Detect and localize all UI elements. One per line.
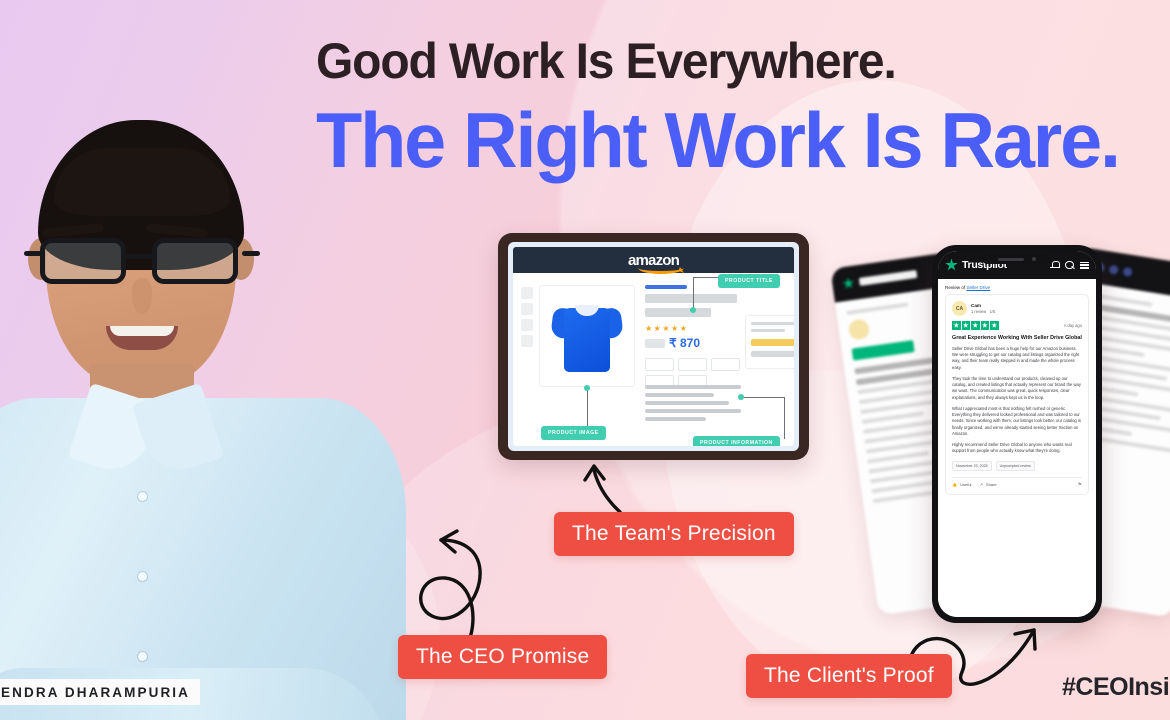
phone-notch	[982, 254, 1052, 264]
share-button[interactable]: ↗ Share	[979, 482, 996, 487]
buybox-line-2	[751, 329, 785, 332]
product-hero-image	[539, 285, 635, 387]
nose	[132, 278, 152, 314]
reviewer-identity: Cam 1 review US	[971, 303, 995, 314]
seller-drive-link[interactable]: Seller Drive	[966, 285, 990, 290]
phone-screen: Trustpilot Review of Seller Drive CA Cam	[938, 251, 1096, 617]
desc-line	[645, 401, 729, 405]
ghost-line	[873, 491, 935, 504]
bell-icon[interactable]	[1050, 261, 1059, 270]
star-icon	[990, 321, 999, 330]
callout-product-title: PRODUCT TITLE	[718, 274, 780, 288]
review-paragraph: Seller Drive Global has been a huge help…	[952, 346, 1082, 372]
useful-button[interactable]: 👍 Useful	[952, 482, 971, 487]
review-date: November 23, 2025	[952, 461, 992, 471]
amazon-logo: amazon	[628, 253, 679, 268]
label-ceo-promise[interactable]: The CEO Promise	[398, 635, 607, 679]
product-description-block	[645, 385, 741, 425]
tablet-mockup: amazon	[498, 233, 809, 460]
trustpilot-star-icon	[945, 259, 958, 272]
rating-row: A day ago	[952, 321, 1082, 330]
star-icon: ★	[671, 325, 678, 333]
headline-block: Good Work Is Everywhere. The Right Work …	[316, 34, 1170, 182]
reviewer-review-count: 1 review	[971, 309, 986, 314]
product-rating-stars: ★ ★ ★ ★ ★	[645, 325, 737, 333]
unprompted-review-badge: Unprompted review	[996, 461, 1035, 471]
tablet-screen: amazon	[508, 242, 799, 451]
reviewer-location: US	[990, 309, 996, 314]
star-icon	[842, 277, 856, 291]
shirt-button-3	[138, 652, 147, 661]
flag-icon[interactable]: ⚑	[1078, 482, 1082, 488]
ghost-avatar	[848, 318, 871, 341]
amazon-header: amazon	[513, 247, 794, 273]
thumbnail-strip[interactable]	[521, 287, 533, 347]
reviewer-name: Cam	[971, 303, 995, 308]
buybox-panel	[745, 315, 794, 369]
callout-connector-info-h	[741, 397, 785, 398]
callout-connector-info-v	[784, 397, 785, 439]
star-icon: ★	[680, 325, 687, 333]
speaker-name-text: IJENDRA DHARAMPURIA	[0, 685, 190, 700]
review-time-ago: A day ago	[1064, 323, 1082, 328]
callout-connector-image-v	[587, 389, 588, 429]
product-title-bar-2	[645, 308, 711, 317]
speaker-portrait	[0, 120, 400, 720]
review-page-body: Review of Seller Drive CA Cam 1 review U…	[938, 279, 1096, 617]
desc-line	[645, 385, 741, 389]
star-icon: ★	[645, 325, 652, 333]
share-label: Share	[986, 482, 997, 487]
variant-option[interactable]	[711, 358, 740, 371]
callout-connector-title-v	[693, 277, 694, 309]
review-paragraph: Highly recommend Seller Drive Global to …	[952, 442, 1082, 455]
phone-mockup-stack: Trustpilot Review of Seller Drive CA Cam	[850, 240, 1170, 640]
tshirt-body	[564, 308, 610, 372]
thumbnail-4[interactable]	[521, 335, 533, 347]
headline-line-1: Good Work Is Everywhere.	[316, 34, 1170, 88]
ghost-line	[846, 302, 908, 315]
thumbnail-2[interactable]	[521, 303, 533, 315]
star-icon	[952, 321, 961, 330]
label-client-proof[interactable]: The Client's Proof	[746, 654, 952, 698]
review-of-prefix: Review of	[945, 285, 966, 290]
callout-dot-title	[690, 307, 696, 313]
callout-dot-image	[584, 385, 590, 391]
useful-label: Useful	[960, 482, 971, 487]
ghost-icon	[1123, 266, 1133, 276]
product-price-row: ₹ 870	[645, 336, 737, 350]
review-paragraph: They took the time to understand our pro…	[952, 376, 1082, 402]
headline-line-2: The Right Work Is Rare.	[316, 100, 1170, 182]
review-title: Great Experience Working With Seller Dri…	[952, 335, 1082, 342]
price-discount-chip	[645, 339, 665, 348]
buybox-line-3	[751, 351, 794, 357]
avatar: CA	[952, 301, 967, 316]
review-actions: 👍 Useful ↗ Share ⚑	[952, 477, 1082, 488]
ghost-icon	[1109, 264, 1119, 274]
review-card: CA Cam 1 review US	[945, 294, 1089, 495]
variant-option[interactable]	[645, 358, 674, 371]
amazon-product-page: amazon	[513, 247, 794, 446]
header-icon-group	[1050, 261, 1089, 270]
star-icon	[962, 321, 971, 330]
buybox-line-1	[751, 322, 794, 325]
add-to-cart-button[interactable]	[751, 339, 794, 346]
glasses-lens-left	[40, 238, 126, 284]
product-breadcrumb-bar	[645, 285, 687, 289]
star-icon	[971, 321, 980, 330]
speaker-grille	[998, 258, 1024, 261]
search-icon[interactable]	[1065, 261, 1074, 270]
callout-product-image: PRODUCT IMAGE	[541, 426, 606, 440]
variant-option[interactable]	[678, 358, 707, 371]
review-paragraph: What I appreciated most is that nothing …	[952, 406, 1082, 438]
shirt-button-2	[138, 572, 147, 581]
star-icon: ★	[662, 325, 669, 333]
callout-dot-info	[738, 394, 744, 400]
variant-swatches[interactable]	[645, 358, 741, 388]
rating-stars	[952, 321, 999, 330]
star-icon	[981, 321, 990, 330]
amazon-smile-icon	[638, 262, 684, 274]
star-icon: ★	[654, 325, 661, 333]
tshirt-icon	[553, 300, 621, 372]
desc-line	[645, 393, 714, 397]
reviewer-meta: 1 review US	[971, 309, 995, 314]
ghost-logo	[859, 270, 918, 286]
product-price: ₹ 870	[669, 336, 700, 350]
amazon-body: ★ ★ ★ ★ ★ ₹ 870	[513, 273, 794, 446]
reviewer-header: CA Cam 1 review US	[952, 301, 1082, 316]
glasses-lens-right	[152, 238, 238, 284]
speaker-name-banner: IJENDRA DHARAMPURIA	[0, 679, 200, 705]
phone-mockup: Trustpilot Review of Seller Drive CA Cam	[932, 245, 1102, 623]
product-detail-column: ★ ★ ★ ★ ★ ₹ 870	[645, 285, 737, 388]
hamburger-menu-icon[interactable]	[1080, 262, 1089, 269]
ghost-rating-chip	[852, 340, 915, 361]
review-of-breadcrumb: Review of Seller Drive	[945, 285, 1089, 290]
glasses-temple-right	[242, 251, 260, 256]
thumbnail-1[interactable]	[521, 287, 533, 299]
front-camera-icon	[1032, 257, 1036, 261]
label-team-precision[interactable]: The Team's Precision	[554, 512, 794, 556]
hashtag: #CEOInsig	[1062, 673, 1170, 702]
shirt-button-1	[138, 492, 147, 501]
thumbnail-3[interactable]	[521, 319, 533, 331]
product-title-bar-1	[645, 294, 737, 303]
callout-product-information: PRODUCT INFORMATION	[693, 436, 780, 446]
desc-line	[645, 409, 741, 413]
review-tag-row: November 23, 2025 Unprompted review	[952, 461, 1082, 471]
desc-line	[645, 417, 706, 421]
